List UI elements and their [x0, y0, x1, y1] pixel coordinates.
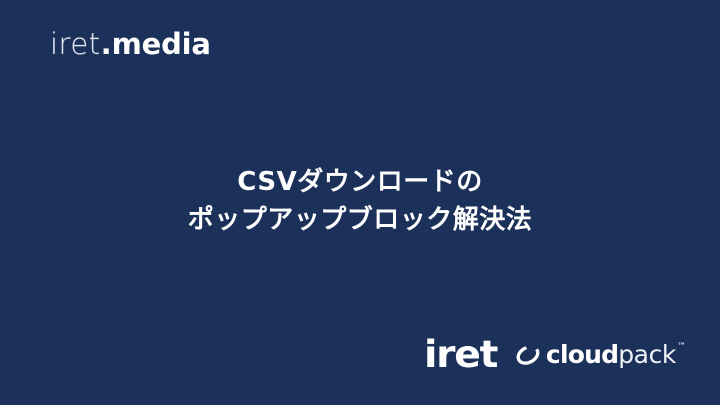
- title-slide: iret.media CSVダウンロードの ポップアップブロック解決法 iret…: [0, 0, 720, 405]
- footer-logo-lockup: iret cloudpack™: [424, 336, 686, 373]
- title-line-2: ポップアップブロック解決法: [0, 201, 720, 239]
- title-line-1: CSVダウンロードの: [0, 163, 720, 201]
- cloudpack-cloud-text: cloud: [546, 342, 618, 367]
- cloudpack-trademark: ™: [677, 343, 686, 352]
- slide-title: CSVダウンロードの ポップアップブロック解決法: [0, 163, 720, 239]
- brand-logo-media-text: media: [112, 30, 211, 59]
- iret-wordmark-logo: iret: [424, 336, 497, 373]
- iret-media-brand-logo: iret.media: [50, 30, 211, 59]
- swoosh-ring-icon: [515, 342, 541, 368]
- brand-logo-dot: .: [101, 30, 112, 59]
- cloudpack-wordmark: cloudpack™: [546, 342, 686, 367]
- cloudpack-pack-text: pack: [618, 342, 676, 367]
- cloudpack-logo: cloudpack™: [515, 342, 686, 368]
- brand-logo-iret-text: iret: [50, 30, 101, 59]
